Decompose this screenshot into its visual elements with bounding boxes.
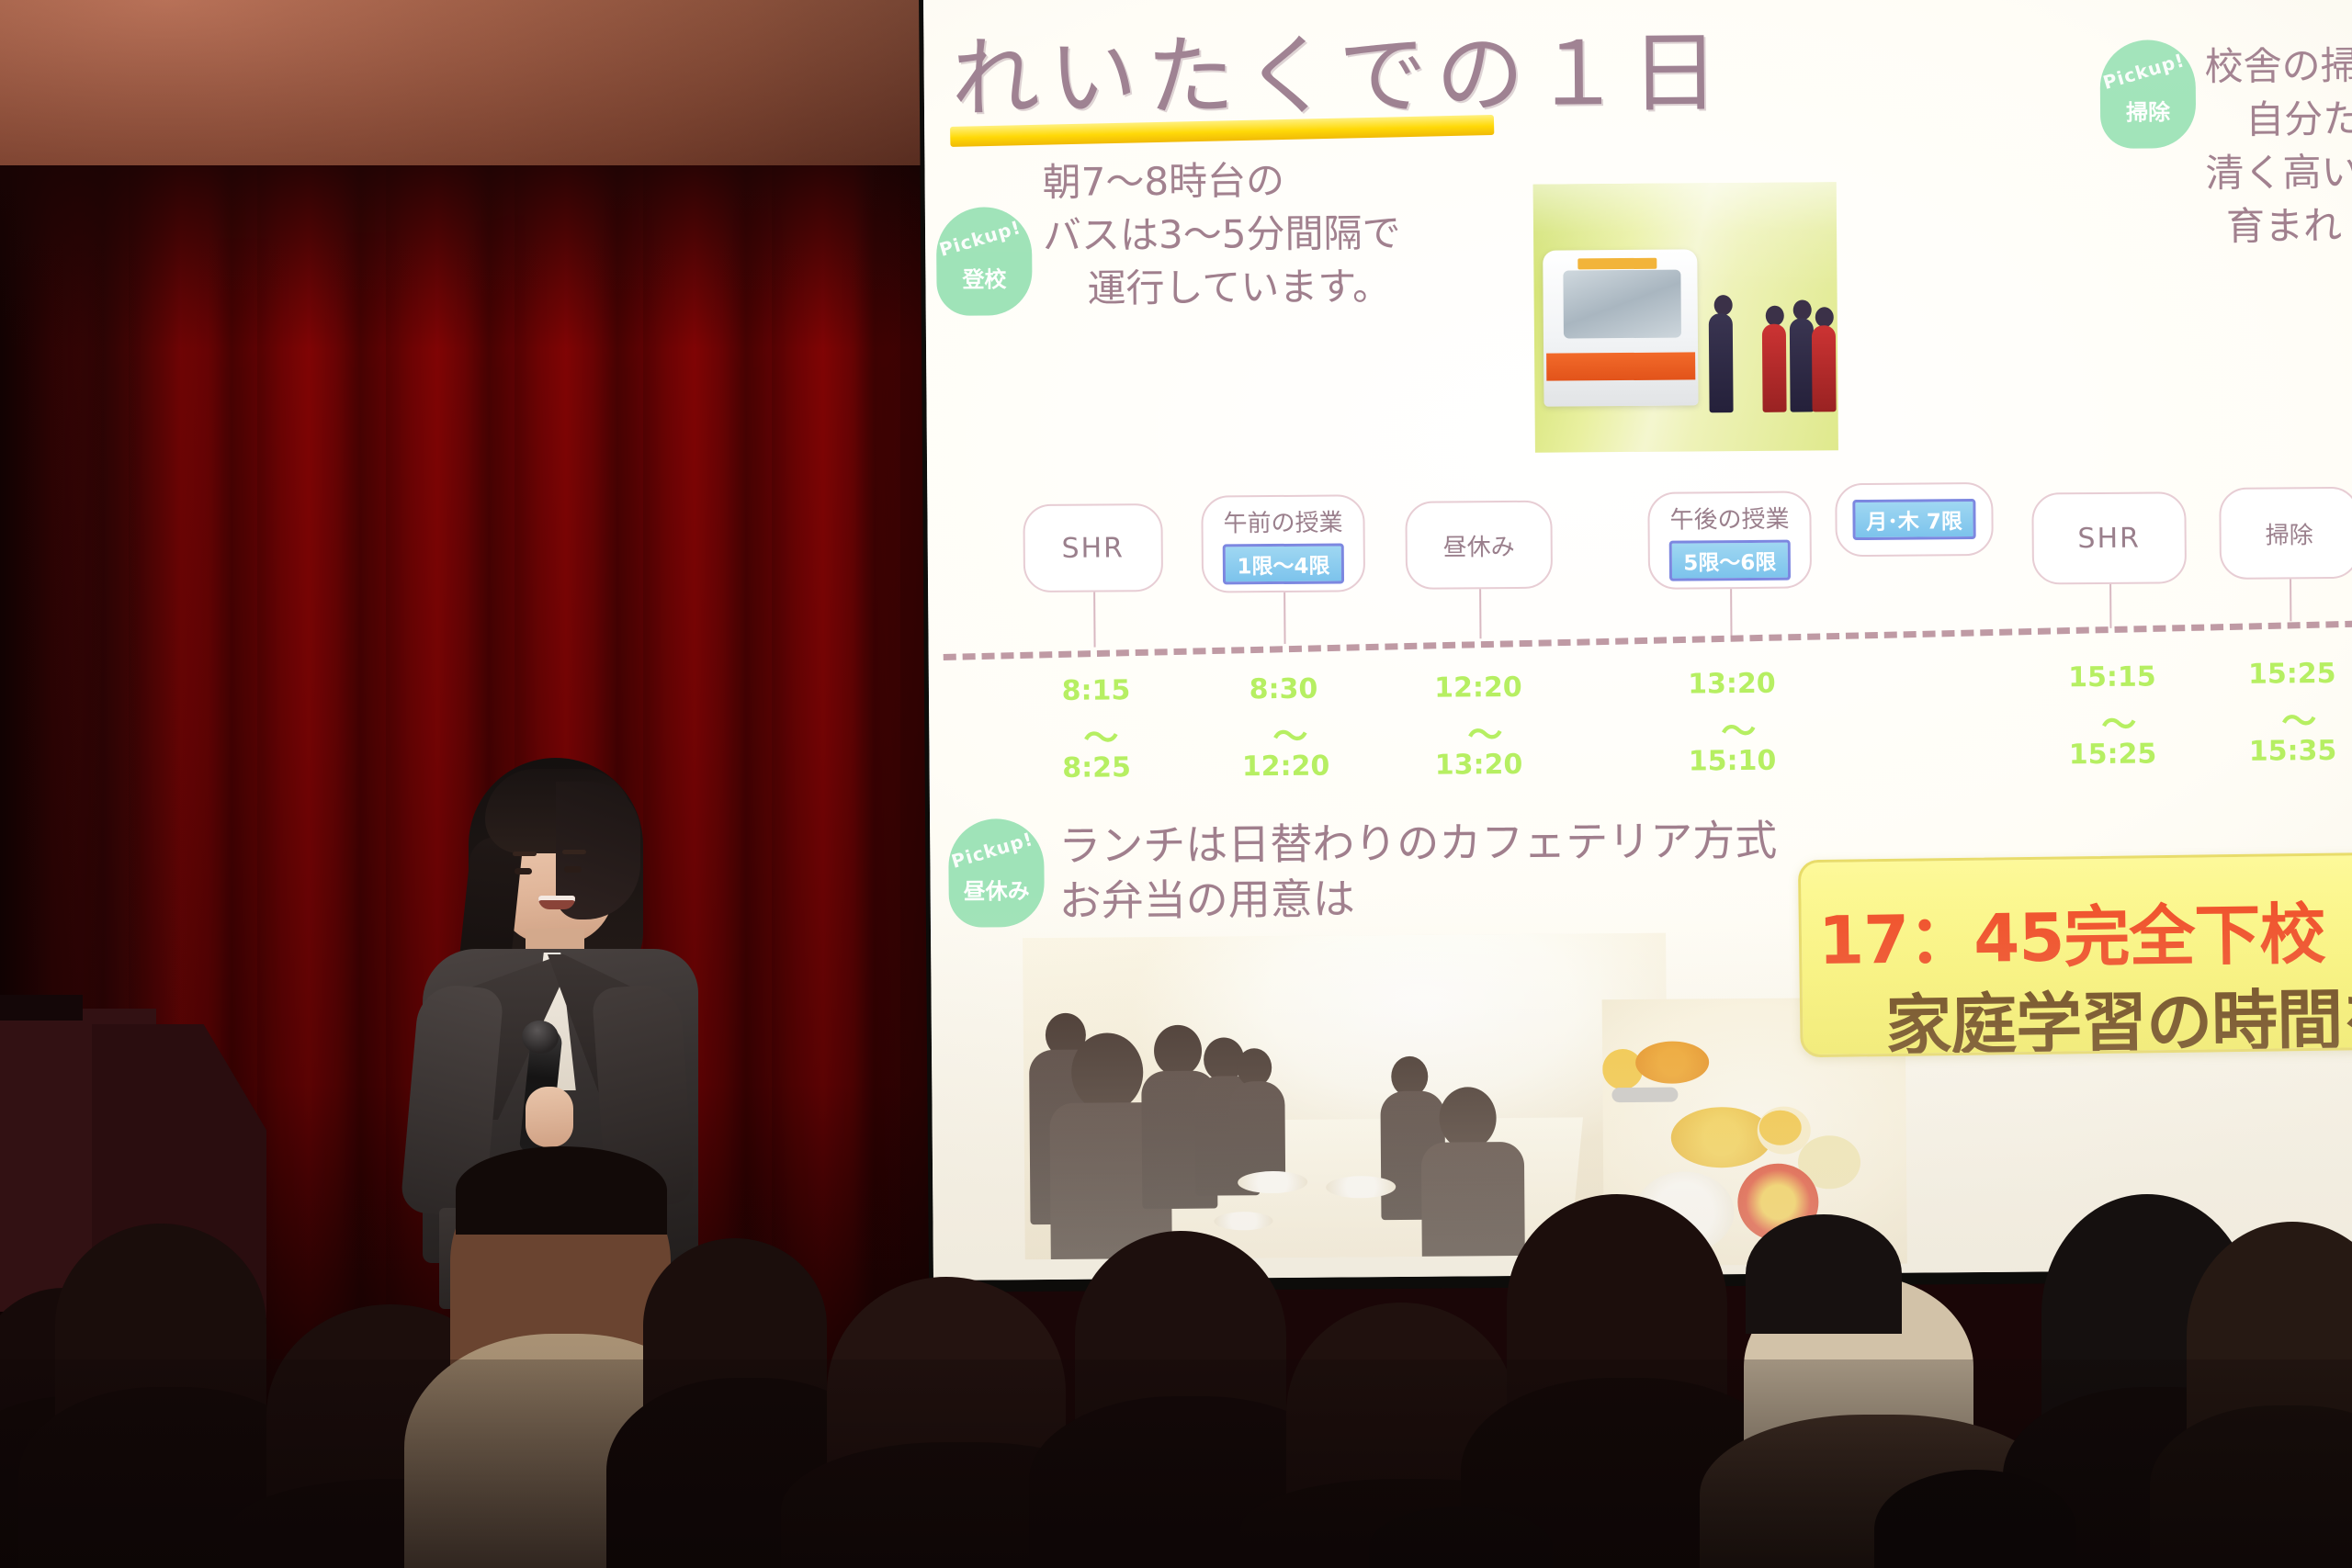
timeline-connector	[1479, 589, 1481, 638]
pickup-badge-cleaning: Pickup! 掃除	[2099, 39, 2196, 149]
timeline-time-start: 15:15	[2048, 660, 2177, 694]
timeline-step-chip: 月･木 7限	[1852, 499, 1976, 540]
food-item-spoon	[1611, 1088, 1678, 1103]
commute-text-line2: バスは3〜5分間隔で	[1043, 208, 1401, 262]
timeline-step-lunch-break: 昼休み	[1405, 501, 1553, 590]
timeline-step-morning-classes: 午前の授業 1限〜4限	[1201, 494, 1365, 592]
timeline-step-cleaning: 掃除	[2219, 487, 2352, 580]
timeline-step-period7: 月･木 7限	[1835, 482, 1994, 557]
pickup-badge-commute: Pickup! 登校	[936, 207, 1033, 316]
timeline-connector	[1093, 592, 1095, 648]
student-body	[1812, 325, 1837, 412]
timeline-connector	[1283, 592, 1285, 644]
cleaning-text-line3: 清く高い心	[2205, 146, 2352, 199]
timeline-time-start: 8:30	[1228, 672, 1339, 705]
timeline-step-label: SHR	[2077, 522, 2141, 555]
timeline-time-start: 13:20	[1668, 668, 1796, 701]
slide-title: れいたくでの１日	[951, 1, 1728, 135]
pickup-badge-lunch: Pickup! 昼休み	[948, 818, 1045, 928]
timeline-time-end: 12:20	[1221, 750, 1350, 783]
curtain-top-shadow	[0, 165, 937, 349]
presenter-eyebrow-left	[513, 852, 537, 856]
timeline-time-start: 15:25	[2228, 658, 2352, 691]
student-head	[1815, 307, 1834, 327]
timeline-step-label: 昼休み	[1443, 527, 1515, 562]
school-bus-photo	[1533, 182, 1838, 453]
auditorium-scene: れいたくでの１日 Pickup! 登校 朝7〜8時台の バスは3〜5分間隔で 運…	[0, 0, 2352, 1568]
pickup-badge-label: Pickup!	[949, 827, 1035, 872]
student-body	[1790, 318, 1815, 412]
lunch-text-line1: ランチは日替わりのカフェテリア方式	[1058, 813, 1777, 874]
timeline-time-end: 15:10	[1668, 745, 1796, 778]
audience-hair	[456, 1146, 667, 1235]
timeline-step-label: SHR	[1061, 532, 1125, 565]
timeline-step-shr-morning: SHR	[1023, 503, 1163, 592]
timeline-time-start: 8:15	[1041, 674, 1151, 707]
timeline-step-afternoon-classes: 午後の授業 5限〜6限	[1647, 491, 1812, 589]
cleaning-text-line2: 自分た	[2245, 94, 2352, 146]
cleaning-text-line4: 育まれ	[2226, 200, 2342, 253]
bus-orange-stripe	[1546, 352, 1695, 380]
cleaning-text-line1: 校舎の掃除	[2204, 39, 2352, 93]
timeline-connector	[2109, 584, 2111, 628]
cafeteria-student-head	[1071, 1032, 1144, 1112]
timeline-connector	[2290, 579, 2291, 621]
commute-text-line3: 運行しています。	[1087, 261, 1391, 314]
podium-top-shelf	[0, 995, 83, 1021]
presentation-slide: れいたくでの１日 Pickup! 登校 朝7〜8時台の バスは3〜5分間隔で 運…	[923, 0, 2352, 1280]
pickup-badge-label: Pickup!	[937, 216, 1023, 261]
timeline-time-end: 13:20	[1414, 749, 1543, 782]
timeline-time-end: 15:25	[2048, 738, 2177, 771]
cap-crown	[1746, 1214, 1902, 1334]
presenter-mouth	[538, 896, 575, 909]
timeline-step-label: 午後の授業	[1669, 500, 1789, 535]
bus-destination-sign	[1577, 258, 1657, 270]
timeline-step-label: 掃除	[2265, 516, 2312, 550]
pickup-badge-topic: 登校	[962, 261, 1006, 293]
callout-box-dismissal: 17：45完全下校（土曜日17 家庭学習の時間を確保	[1798, 852, 2352, 1058]
timeline-time-start: 12:20	[1414, 671, 1543, 705]
cafeteria-student-head	[1154, 1025, 1202, 1077]
lunch-text-line2: お弁当の用意は	[1059, 871, 1355, 930]
student-head	[1766, 306, 1784, 326]
cafeteria-student	[1421, 1142, 1525, 1259]
projection-screen: れいたくでの１日 Pickup! 登校 朝7〜8時台の バスは3〜5分間隔で 運…	[923, 0, 2352, 1280]
student-head	[1793, 299, 1812, 320]
presenter-eye-right	[564, 866, 582, 873]
timeline-time-end: 15:35	[2228, 735, 2352, 768]
timeline-time-end: 8:25	[1041, 751, 1151, 784]
cafeteria-student-head	[1439, 1087, 1497, 1149]
timeline-step-chip: 1限〜4限	[1223, 543, 1343, 584]
student-body	[1709, 313, 1734, 412]
callout-line2: 家庭学習の時間を確保	[1884, 964, 2352, 1058]
food-item-egg	[1759, 1111, 1802, 1145]
presenter-eyebrow-right	[562, 850, 586, 854]
student-body	[1762, 324, 1787, 412]
bus-windshield	[1563, 270, 1681, 339]
presenter-hand-holding-microphone	[526, 1087, 573, 1147]
timeline-step-shr-afternoon: SHR	[2031, 491, 2187, 584]
food-item-side	[1635, 1041, 1709, 1084]
presenter-eye-left	[514, 868, 532, 874]
pickup-badge-topic: 昼休み	[964, 873, 1030, 906]
student-head	[1714, 295, 1733, 315]
pickup-badge-label: Pickup!	[2100, 49, 2187, 94]
timeline-axis	[944, 621, 2352, 660]
food-item-omelet	[1671, 1107, 1773, 1168]
timeline-step-label: 午前の授業	[1223, 503, 1342, 538]
timeline-step-chip: 5限〜6限	[1669, 539, 1790, 581]
pickup-badge-topic: 掃除	[2126, 94, 2170, 126]
bus-body-shape	[1543, 249, 1698, 406]
timeline-connector	[1730, 589, 1732, 637]
commute-text-line1: 朝7〜8時台の	[1042, 155, 1284, 209]
